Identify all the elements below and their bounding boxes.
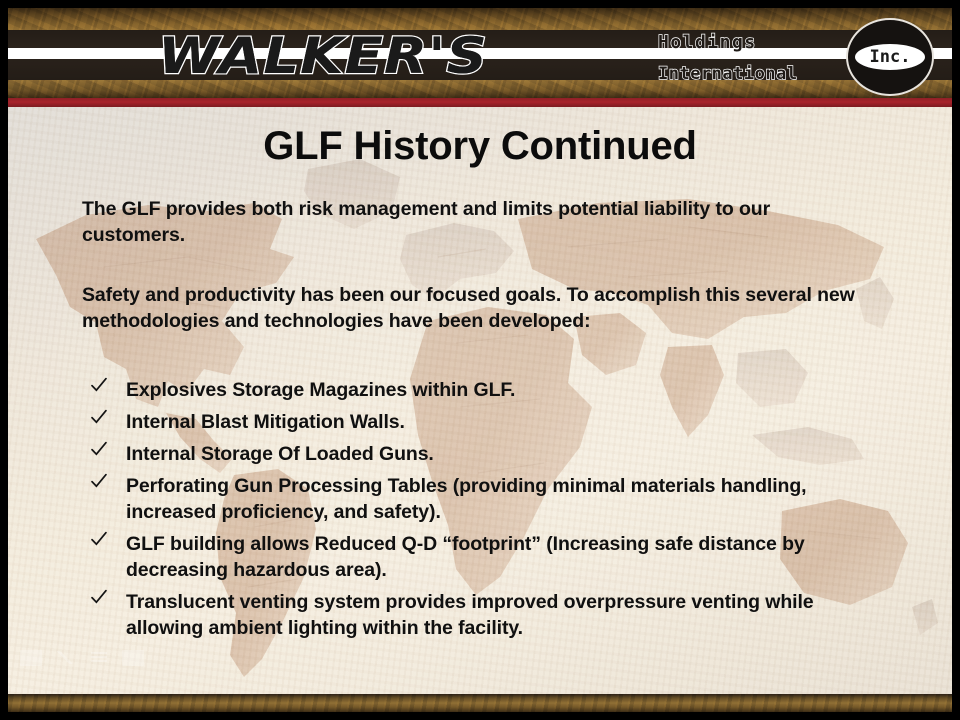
- slide-menu-icon[interactable]: [88, 650, 110, 666]
- presentation-slide: WALKER'S Holdings International Inc.: [0, 0, 960, 720]
- inc-badge-icon: Inc.: [846, 18, 934, 96]
- list-item-label: Internal Storage Of Loaded Guns.: [126, 443, 434, 465]
- slide-content-area: GLF History Continued The GLF provides b…: [8, 107, 952, 694]
- previous-slide-icon[interactable]: [20, 650, 42, 666]
- list-item-label: GLF building allows Reduced Q-D “footpri…: [126, 533, 805, 581]
- inc-badge-oval: Inc.: [855, 44, 925, 70]
- list-item: Translucent venting system provides impr…: [82, 589, 892, 641]
- check-icon: [90, 472, 108, 494]
- list-item-label: Perforating Gun Processing Tables (provi…: [126, 475, 806, 523]
- list-item-label: Explosives Storage Magazines within GLF.: [126, 379, 515, 401]
- bullet-list: Explosives Storage Magazines within GLF.…: [82, 377, 892, 647]
- intro-paragraph-2: Safety and productivity has been our foc…: [82, 282, 872, 334]
- list-item: Explosives Storage Magazines within GLF.: [82, 377, 892, 403]
- list-item: GLF building allows Reduced Q-D “footpri…: [82, 531, 892, 583]
- inc-badge-label: Inc.: [870, 49, 911, 66]
- slide-text-content: GLF History Continued The GLF provides b…: [8, 107, 952, 694]
- slideshow-nav-controls[interactable]: [20, 650, 144, 666]
- footer-gold-strip: [8, 694, 952, 712]
- header-red-divider: [8, 98, 952, 107]
- list-item: Internal Blast Mitigation Walls.: [82, 409, 892, 435]
- list-item: Internal Storage Of Loaded Guns.: [82, 441, 892, 467]
- brand-tagline-line-2: International: [658, 64, 798, 84]
- brand-wordmark: WALKER'S: [158, 28, 488, 84]
- list-item: Perforating Gun Processing Tables (provi…: [82, 473, 892, 525]
- pen-tool-icon[interactable]: [54, 650, 76, 666]
- check-icon: [90, 440, 108, 462]
- brand-tagline-line-1: Holdings: [658, 32, 757, 53]
- intro-paragraph-1: The GLF provides both risk management an…: [82, 196, 872, 248]
- slide-title: GLF History Continued: [8, 123, 952, 169]
- check-icon: [90, 530, 108, 552]
- list-item-label: Translucent venting system provides impr…: [126, 591, 814, 639]
- check-icon: [90, 588, 108, 610]
- list-item-label: Internal Blast Mitigation Walls.: [126, 411, 405, 433]
- header-banner: WALKER'S Holdings International Inc.: [8, 8, 952, 98]
- check-icon: [90, 376, 108, 398]
- next-slide-icon[interactable]: [122, 650, 144, 666]
- check-icon: [90, 408, 108, 430]
